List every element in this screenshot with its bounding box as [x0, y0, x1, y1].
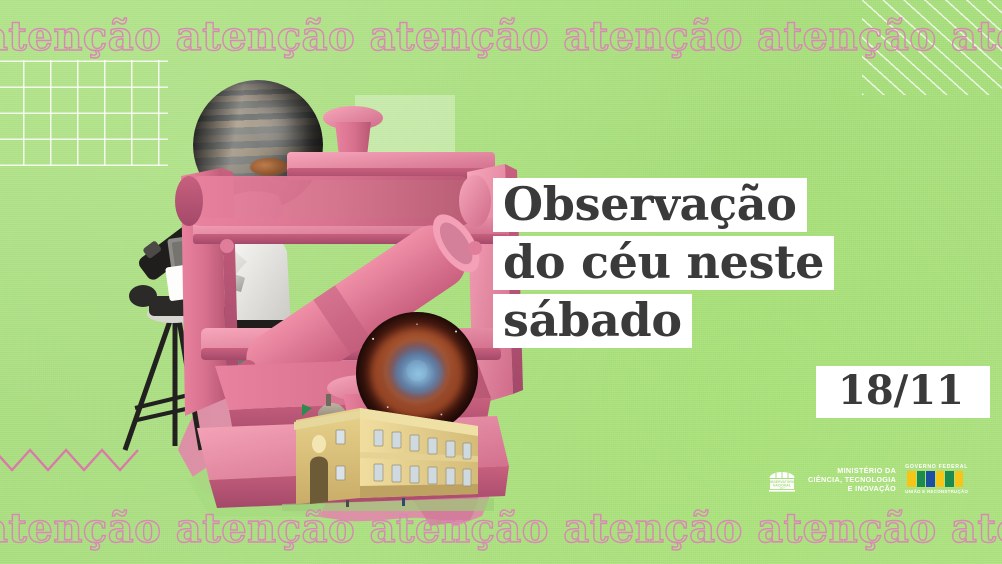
gov-logo-bottom-text: UNIÃO E RECONSTRUÇÃO [905, 489, 965, 494]
headline-line-2: do céu neste [493, 236, 834, 290]
top-marquee: atenção atenção atenção atenção atenção … [0, 14, 1002, 60]
gov-logo-color-blocks [907, 471, 963, 487]
poster-canvas: atenção atenção atenção atenção atenção … [0, 0, 1002, 564]
ministry-line-3: E INOVAÇÃO [808, 484, 896, 493]
date-badge-text: 18/11 [838, 367, 964, 414]
bottom-marquee: atenção atenção atenção atenção atenção … [0, 506, 1002, 552]
marquee-text: atenção atenção atenção atenção atenção … [0, 509, 1002, 549]
headline-line-3: sábado [493, 294, 692, 348]
svg-text:1827: 1827 [779, 487, 785, 490]
marquee-text: atenção atenção atenção atenção atenção … [0, 17, 1002, 57]
logo-group: OBSERVATÓRIO NACIONAL 1827 MINISTÉRIO DA… [765, 462, 965, 496]
observatorio-nacional-logo: OBSERVATÓRIO NACIONAL 1827 [765, 462, 799, 496]
ministry-logo-text: MINISTÉRIO DA CIÊNCIA, TECNOLOGIA E INOV… [808, 466, 896, 493]
headline-line-1: Observação [493, 178, 807, 232]
headline-block: Observação do céu neste sábado [493, 178, 834, 352]
observatory-building-image [282, 386, 494, 511]
headline-line-1-text: Observação [503, 179, 797, 229]
ministry-line-2: CIÊNCIA, TECNOLOGIA [808, 475, 896, 484]
headline-line-2-text: do céu neste [503, 237, 824, 287]
ministry-line-1: MINISTÉRIO DA [808, 466, 896, 475]
gov-logo-top-text: GOVERNO FEDERAL [905, 464, 965, 470]
headline-line-3-text: sábado [503, 295, 682, 345]
governo-federal-brasil-logo: GOVERNO FEDERAL UNIÃO E RECONSTRUÇÃO [905, 464, 965, 494]
date-badge: 18/11 [816, 366, 990, 418]
